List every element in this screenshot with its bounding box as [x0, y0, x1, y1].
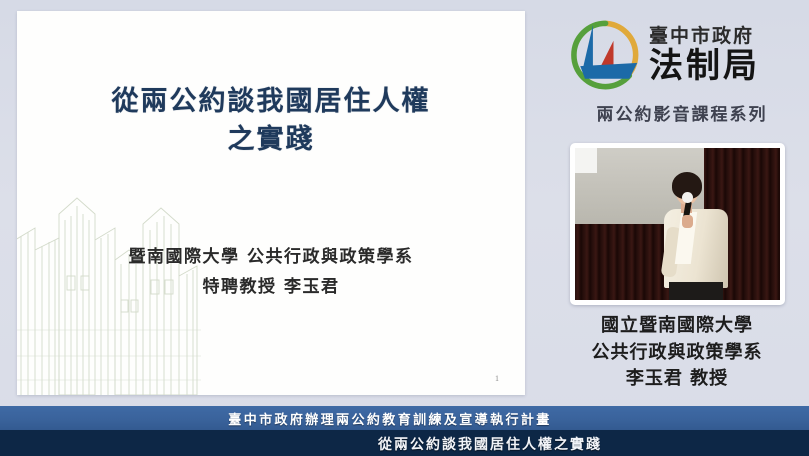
slide-subtitle-line-2: 特聘教授 李玉君: [17, 273, 525, 303]
speaker-video-thumbnail[interactable]: [570, 143, 785, 305]
logo-row: 臺中市政府 法制局: [560, 16, 804, 94]
speaker-caption-line-1: 國立暨南國際大學: [545, 313, 809, 340]
program-banner-text: 臺中市政府辦理兩公約教育訓練及宣導執行計畫: [0, 409, 780, 428]
slide-page-number: 1: [495, 374, 499, 383]
lecture-banner-text: 從兩公約談我國居住人權之實踐: [0, 434, 809, 454]
slide-title-line-1: 從兩公約談我國居住人權: [112, 86, 431, 117]
logo-series-label: 兩公約影音課程系列: [560, 100, 804, 125]
slide-title-line-2: 之實踐: [17, 121, 525, 159]
program-banner: 臺中市政府辦理兩公約教育訓練及宣導執行計畫: [0, 406, 809, 430]
lecture-banner: 從兩公約談我國居住人權之實踐: [0, 430, 809, 456]
presentation-screen: 從兩公約談我國居住人權 之實踐 暨南國際大學 公共行政與政策學系 特聘教授 李玉…: [0, 0, 809, 456]
logo-government-name: 臺中市政府: [649, 27, 760, 46]
speaker-hand: [682, 215, 693, 228]
microphone-head-icon: [682, 192, 693, 203]
slide-subtitle-line-1: 暨南國際大學 公共行政與政策學系: [17, 243, 525, 273]
projection-screen-notch: [575, 148, 597, 173]
speaker-photo: [575, 148, 780, 300]
slide-subtitle: 暨南國際大學 公共行政與政策學系 特聘教授 李玉君: [17, 243, 525, 303]
speaker-caption-line-2: 公共行政與政策學系: [545, 340, 809, 367]
logo-wordmark: 臺中市政府 法制局: [649, 27, 760, 83]
speaker-skirt: [669, 282, 723, 300]
organization-logo-block: 臺中市政府 法制局 兩公約影音課程系列: [560, 16, 804, 128]
slide-panel: 從兩公約談我國居住人權 之實踐 暨南國際大學 公共行政與政策學系 特聘教授 李玉…: [17, 11, 525, 395]
speaker-caption-line-3: 李玉君 教授: [545, 366, 809, 393]
logo-department-name: 法制局: [649, 49, 760, 83]
taichung-sailboat-logo-icon: [564, 17, 644, 93]
speaker-caption: 國立暨南國際大學 公共行政與政策學系 李玉君 教授: [545, 313, 809, 393]
slide-title: 從兩公約談我國居住人權 之實踐: [17, 83, 525, 160]
